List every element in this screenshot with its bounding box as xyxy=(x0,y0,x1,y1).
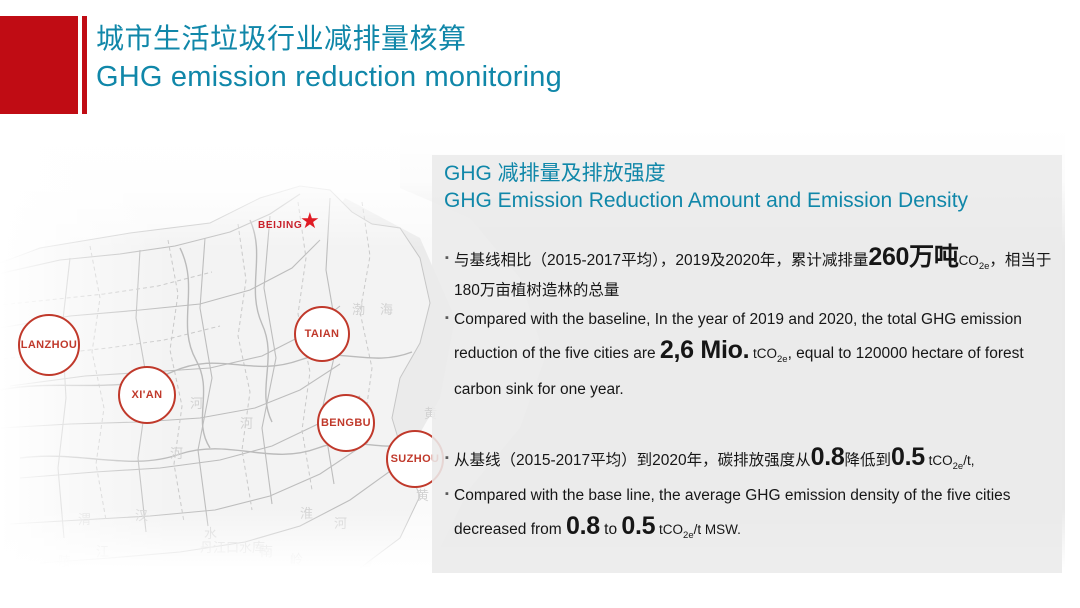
bullet-text: 从基线（2015-2017平均）到2020年，碳排放强度从0.8降低到0.5 t… xyxy=(454,445,1058,479)
bullet-text-run: 降低到 xyxy=(844,452,891,469)
bullet-item: ▪与基线相比（2015-2017平均），2019及2020年，累计减排量260万… xyxy=(440,245,1058,303)
bullet-marker-icon: ▪ xyxy=(440,481,454,506)
page-header: 城市生活垃圾行业减排量核算 GHG emission reduction mon… xyxy=(0,0,1080,132)
page-title-cn: 城市生活垃圾行业减排量核算 xyxy=(96,22,562,56)
svg-text:黄: 黄 xyxy=(416,489,429,504)
content-panel: GHG 减排量及排放强度 GHG Emission Reduction Amou… xyxy=(432,155,1062,573)
bullet-text-run: tCO xyxy=(925,453,953,468)
bullet-text-run: 2e xyxy=(683,530,694,541)
bullet-item: ▪Compared with the baseline, In the year… xyxy=(440,305,1058,405)
bullet-text-run: to xyxy=(600,521,622,538)
bullet-text-run: 0.8 xyxy=(566,512,600,540)
bullet-text-run: tCO xyxy=(749,346,777,361)
bullet-text: 与基线相比（2015-2017平均），2019及2020年，累计减排量260万吨… xyxy=(454,245,1058,303)
bullet-marker-icon: ▪ xyxy=(440,445,454,470)
bullet-text-run: 0.5 xyxy=(621,512,655,540)
svg-text:水: 水 xyxy=(204,527,217,542)
bullet-text: Compared with the base line, the average… xyxy=(454,481,1058,551)
svg-text:陵: 陵 xyxy=(58,555,71,568)
map-pin-label: TAIAN xyxy=(305,328,340,340)
page-title-en: GHG emission reduction monitoring xyxy=(96,59,562,95)
map-pin-xian[interactable]: XI'AN xyxy=(118,366,176,424)
bullet-text-run: /t MSW. xyxy=(694,522,741,537)
svg-text:汉: 汉 xyxy=(135,509,148,524)
header-red-bar xyxy=(82,16,87,114)
map-pin-label: BENGBU xyxy=(321,417,371,429)
bullet-text-run: 2e xyxy=(979,261,990,272)
panel-title-en: GHG Emission Reduction Amount and Emissi… xyxy=(444,187,968,214)
panel-title-group: GHG 减排量及排放强度 GHG Emission Reduction Amou… xyxy=(444,160,968,214)
svg-text:岭: 岭 xyxy=(290,553,303,568)
svg-text:河: 河 xyxy=(334,517,347,532)
bullet-text-run: 与基线相比（2015-2017平均），2019及2020年，累计减排量 xyxy=(454,252,868,269)
bullet-text: Compared with the baseline, In the year … xyxy=(454,305,1058,405)
bullet-text-run: 260万吨 xyxy=(868,243,958,271)
bullet-marker-icon: ▪ xyxy=(440,245,454,270)
bullet-text-run: CO xyxy=(959,253,979,268)
bullet-marker-icon: ▪ xyxy=(440,305,454,330)
bullet-item: ▪从基线（2015-2017平均）到2020年，碳排放强度从0.8降低到0.5 … xyxy=(440,445,1058,479)
svg-text:渭: 渭 xyxy=(78,513,91,528)
bullet-text-run: /t, xyxy=(963,453,974,468)
map-pin-taian[interactable]: TAIAN xyxy=(294,306,350,362)
bullet-text-run: 从基线（2015-2017平均）到2020年，碳排放强度从 xyxy=(454,452,811,469)
svg-text:河: 河 xyxy=(240,417,253,432)
bullet-text-run: 2,6 Mio. xyxy=(660,336,749,364)
bullet-group: ▪从基线（2015-2017平均）到2020年，碳排放强度从0.8降低到0.5 … xyxy=(440,445,1058,551)
bullet-item: ▪ Compared with the base line, the avera… xyxy=(440,481,1058,551)
panel-title-cn: GHG 减排量及排放强度 xyxy=(444,160,968,187)
map-label-beijing: BEIJING xyxy=(258,220,302,231)
map-pin-label: XI'AN xyxy=(132,389,163,401)
header-red-block xyxy=(0,16,78,114)
bullet-text-run: 2e xyxy=(953,461,964,472)
bullet-list: ▪与基线相比（2015-2017平均），2019及2020年，累计减排量260万… xyxy=(440,245,1058,591)
bullet-text-run: 0.8 xyxy=(811,443,845,471)
svg-text:河: 河 xyxy=(170,447,183,462)
svg-text:渤: 渤 xyxy=(352,302,365,318)
bullet-group: ▪与基线相比（2015-2017平均），2019及2020年，累计减排量260万… xyxy=(440,245,1058,405)
map-pin-bengbu[interactable]: BENGBU xyxy=(317,394,375,452)
svg-text:河: 河 xyxy=(190,397,203,412)
bullet-text-run: 2e xyxy=(777,354,788,365)
map-pin-label: LANZHOU xyxy=(21,339,78,351)
header-title-group: 城市生活垃圾行业减排量核算 GHG emission reduction mon… xyxy=(96,22,562,95)
bullet-text-run: 0.5 xyxy=(891,443,925,471)
svg-text:海: 海 xyxy=(380,303,393,318)
bullet-text-run: tCO xyxy=(655,522,683,537)
capital-star-icon: ★ xyxy=(300,210,320,232)
svg-text:丹江口水库: 丹江口水库 xyxy=(200,540,265,556)
svg-text:淮: 淮 xyxy=(300,507,313,522)
map-pin-lanzhou[interactable]: LANZHOU xyxy=(18,314,80,376)
svg-text:江: 江 xyxy=(96,545,109,560)
